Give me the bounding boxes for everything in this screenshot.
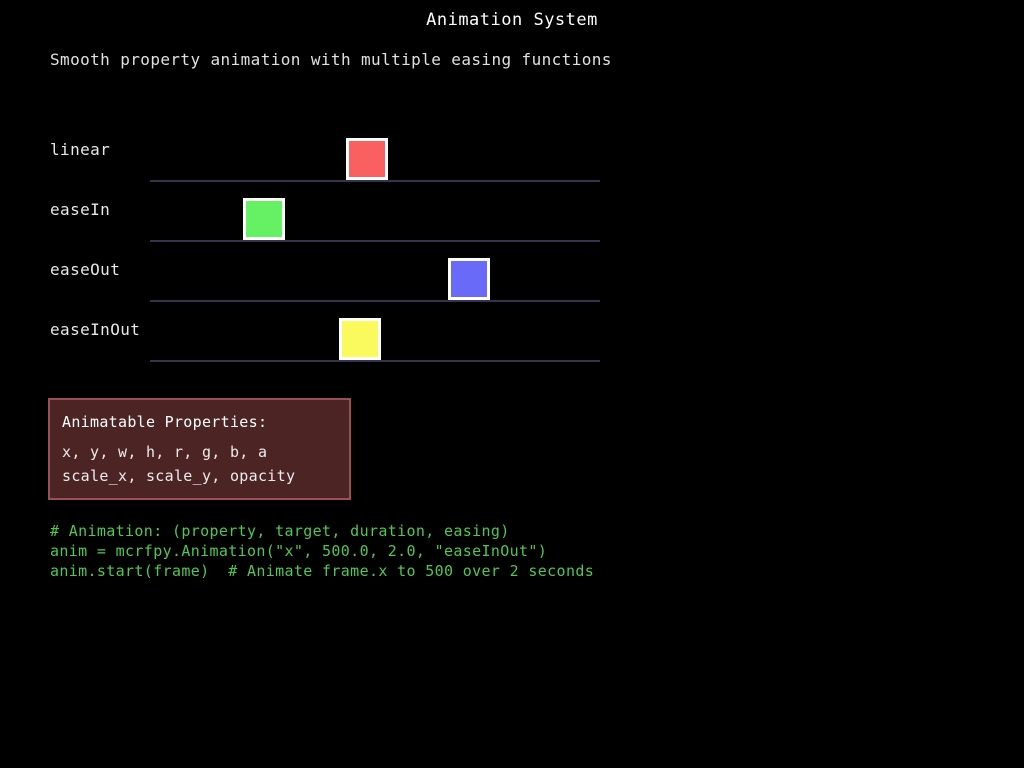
easing-track bbox=[150, 300, 600, 302]
easing-animated-box[interactable] bbox=[243, 198, 285, 240]
easing-animated-box[interactable] bbox=[339, 318, 381, 360]
easing-animated-box[interactable] bbox=[448, 258, 490, 300]
easing-demo-rows: lineareaseIneaseOuteaseInOut bbox=[0, 0, 1024, 400]
easing-row-label: easeOut bbox=[50, 260, 120, 280]
code-line: anim = mcrfpy.Animation("x", 500.0, 2.0,… bbox=[50, 541, 547, 561]
easing-row-label: easeInOut bbox=[50, 320, 140, 340]
easing-track bbox=[150, 180, 600, 182]
code-line: anim.start(frame) # Animate frame.x to 5… bbox=[50, 561, 594, 581]
easing-row-linear: linear bbox=[0, 133, 1024, 193]
easing-row-label: easeIn bbox=[50, 200, 110, 220]
animation-system-screen: Animation System Smooth property animati… bbox=[0, 0, 1024, 768]
easing-row-easeout: easeOut bbox=[0, 253, 1024, 313]
easing-track bbox=[150, 360, 600, 362]
easing-row-easeinout: easeInOut bbox=[0, 313, 1024, 373]
easing-animated-box[interactable] bbox=[346, 138, 388, 180]
animatable-properties-panel: Animatable Properties: x, y, w, h, r, g,… bbox=[48, 398, 351, 500]
properties-panel-title: Animatable Properties: bbox=[62, 412, 267, 432]
easing-row-label: linear bbox=[50, 140, 110, 160]
code-line: # Animation: (property, target, duration… bbox=[50, 521, 510, 541]
easing-row-easein: easeIn bbox=[0, 193, 1024, 253]
properties-line: x, y, w, h, r, g, b, a bbox=[62, 442, 267, 462]
easing-track bbox=[150, 240, 600, 242]
properties-line: scale_x, scale_y, opacity bbox=[62, 466, 295, 486]
